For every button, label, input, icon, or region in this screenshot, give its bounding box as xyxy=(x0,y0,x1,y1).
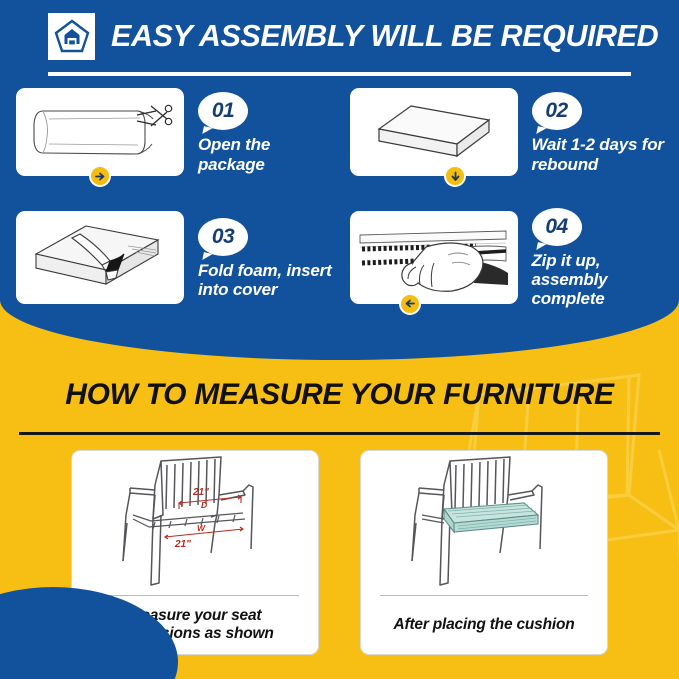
chair-with-teal-cushion-icon xyxy=(382,453,587,593)
step-text-block: 02 Wait 1-2 days for rebound xyxy=(532,90,679,173)
foam-inserted-into-cover-icon xyxy=(28,218,173,296)
step-row: 03 Fold foam, insert into cover xyxy=(0,206,679,309)
dimension-depth-value: 21" xyxy=(192,487,209,498)
panel-illustration xyxy=(361,451,607,595)
step-label: Zip it up, assembly complete xyxy=(532,251,679,309)
step-text-block: 03 Fold foam, insert into cover xyxy=(198,216,340,299)
step-illustration-card xyxy=(350,88,518,176)
step-illustration-card xyxy=(16,211,184,304)
step-label: Open the package xyxy=(198,135,340,173)
step-item-01: 01 Open the package xyxy=(0,88,340,176)
step-illustration-card xyxy=(350,211,518,304)
dimension-depth-axis: D xyxy=(201,500,207,510)
step-text-block: 01 Open the package xyxy=(198,90,340,173)
hand-closing-zipper-icon xyxy=(356,217,511,297)
step-label: Wait 1-2 days for rebound xyxy=(532,135,679,173)
step-number-badge: 03 xyxy=(198,218,248,256)
step-item-02: 02 Wait 1-2 days for rebound xyxy=(340,88,679,176)
step-illustration-card xyxy=(16,88,184,176)
dimension-width-axis: W xyxy=(197,523,206,533)
arrow-down-icon xyxy=(444,165,466,187)
measure-section-title: HOW TO MEASURE YOUR FURNITURE xyxy=(0,378,679,412)
dimension-width-value: 21" xyxy=(174,539,191,550)
step-text-block: 04 Zip it up, assembly complete xyxy=(532,206,679,309)
header-divider xyxy=(48,72,631,76)
step-number-badge: 04 xyxy=(532,208,582,246)
assembly-section: EASY ASSEMBLY WILL BE REQUIRED xyxy=(0,0,679,360)
panel-caption: After placing the cushion xyxy=(385,596,582,654)
measure-divider xyxy=(19,432,660,435)
header: EASY ASSEMBLY WILL BE REQUIRED xyxy=(0,0,679,72)
step-list: 01 Open the package xyxy=(0,88,679,309)
chair-with-dimension-arrows-icon: 21" D W 21" xyxy=(93,453,298,593)
panel-illustration: 21" D W 21" xyxy=(72,451,318,595)
page-title: EASY ASSEMBLY WILL BE REQUIRED xyxy=(111,19,658,54)
measure-panel-cushion: After placing the cushion xyxy=(360,450,608,655)
arrow-left-icon xyxy=(399,293,421,315)
step-item-03: 03 Fold foam, insert into cover xyxy=(0,206,340,309)
pentagon-house-icon xyxy=(48,13,95,60)
flat-foam-cushion-icon xyxy=(369,96,499,168)
infographic-root: EASY ASSEMBLY WILL BE REQUIRED xyxy=(0,0,679,679)
step-number-badge: 02 xyxy=(532,92,582,130)
rolled-package-with-scissors-icon xyxy=(25,97,175,167)
step-item-04: 04 Zip it up, assembly complete xyxy=(340,206,679,309)
step-row: 01 Open the package xyxy=(0,88,679,176)
step-number-badge: 01 xyxy=(198,92,248,130)
step-label: Fold foam, insert into cover xyxy=(198,261,340,299)
arrow-right-icon xyxy=(89,165,111,187)
